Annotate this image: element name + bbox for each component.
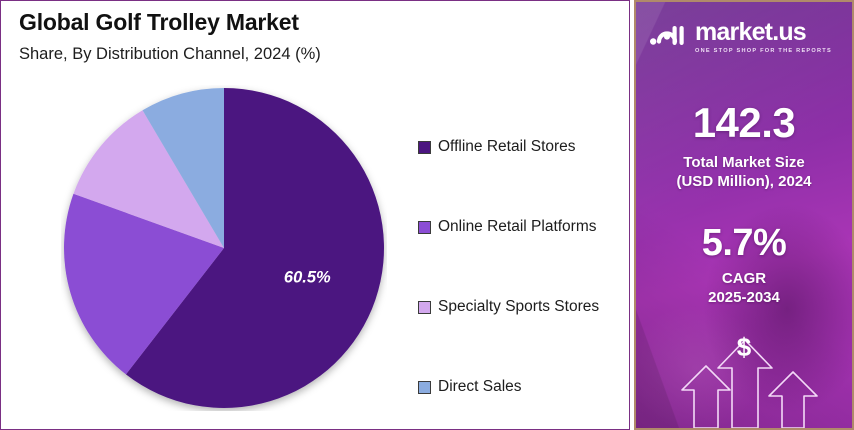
brand-stats-panel: market.us ONE STOP SHOP FOR THE REPORTS …: [634, 0, 854, 430]
stat-cagr: 5.7% CAGR 2025-2034: [636, 224, 852, 307]
pie-data-label: 60.5%: [284, 269, 331, 287]
stat-market-size: 142.3 Total Market Size (USD Million), 2…: [636, 102, 852, 191]
stat-caption: CAGR 2025-2034: [636, 269, 852, 307]
brand-name: market.us: [695, 20, 832, 45]
legend-swatch-icon: [418, 381, 431, 394]
brand-tagline: ONE STOP SHOP FOR THE REPORTS: [695, 48, 832, 54]
stat-caption: Total Market Size (USD Million), 2024: [636, 153, 852, 191]
growth-arrows-graphic: $: [636, 318, 852, 428]
market-us-logo-icon: [650, 22, 688, 53]
page-title: Global Golf Trolley Market: [19, 9, 299, 36]
brand-logo[interactable]: market.us ONE STOP SHOP FOR THE REPORTS: [650, 20, 832, 54]
chart-panel: Global Golf Trolley Market Share, By Dis…: [0, 0, 630, 430]
dollar-sign-icon: $: [636, 334, 852, 360]
stat-value: 142.3: [636, 102, 852, 144]
legend-item-offline-retail-stores[interactable]: Offline Retail Stores: [418, 107, 623, 187]
legend-item-online-retail-platforms[interactable]: Online Retail Platforms: [418, 187, 623, 267]
arrow-up-left-icon: [682, 366, 730, 428]
legend-label: Offline Retail Stores: [438, 138, 576, 156]
pie-slices: [64, 88, 384, 408]
pie-chart-svg: 60.5%: [61, 85, 387, 411]
legend-item-specialty-sports-stores[interactable]: Specialty Sports Stores: [418, 267, 623, 347]
legend-swatch-icon: [418, 221, 431, 234]
stat-caption-line1: CAGR: [636, 269, 852, 288]
legend-label: Specialty Sports Stores: [438, 298, 599, 316]
chart-legend: Offline Retail Stores Online Retail Plat…: [418, 107, 623, 427]
arrow-up-right-icon: [769, 372, 817, 428]
stat-caption-line2: 2025-2034: [636, 288, 852, 307]
legend-swatch-icon: [418, 301, 431, 314]
legend-swatch-icon: [418, 141, 431, 154]
infographic-root: Global Golf Trolley Market Share, By Dis…: [0, 0, 854, 430]
legend-item-direct-sales[interactable]: Direct Sales: [418, 347, 623, 427]
stat-value: 5.7%: [636, 224, 852, 262]
stat-caption-line2: (USD Million), 2024: [636, 172, 852, 191]
brand-text: market.us ONE STOP SHOP FOR THE REPORTS: [695, 20, 832, 54]
chart-subtitle: Share, By Distribution Channel, 2024 (%): [19, 45, 321, 64]
legend-label: Online Retail Platforms: [438, 218, 597, 236]
legend-label: Direct Sales: [438, 378, 522, 396]
pie-chart: 60.5%: [61, 85, 387, 411]
stat-caption-line1: Total Market Size: [636, 153, 852, 172]
